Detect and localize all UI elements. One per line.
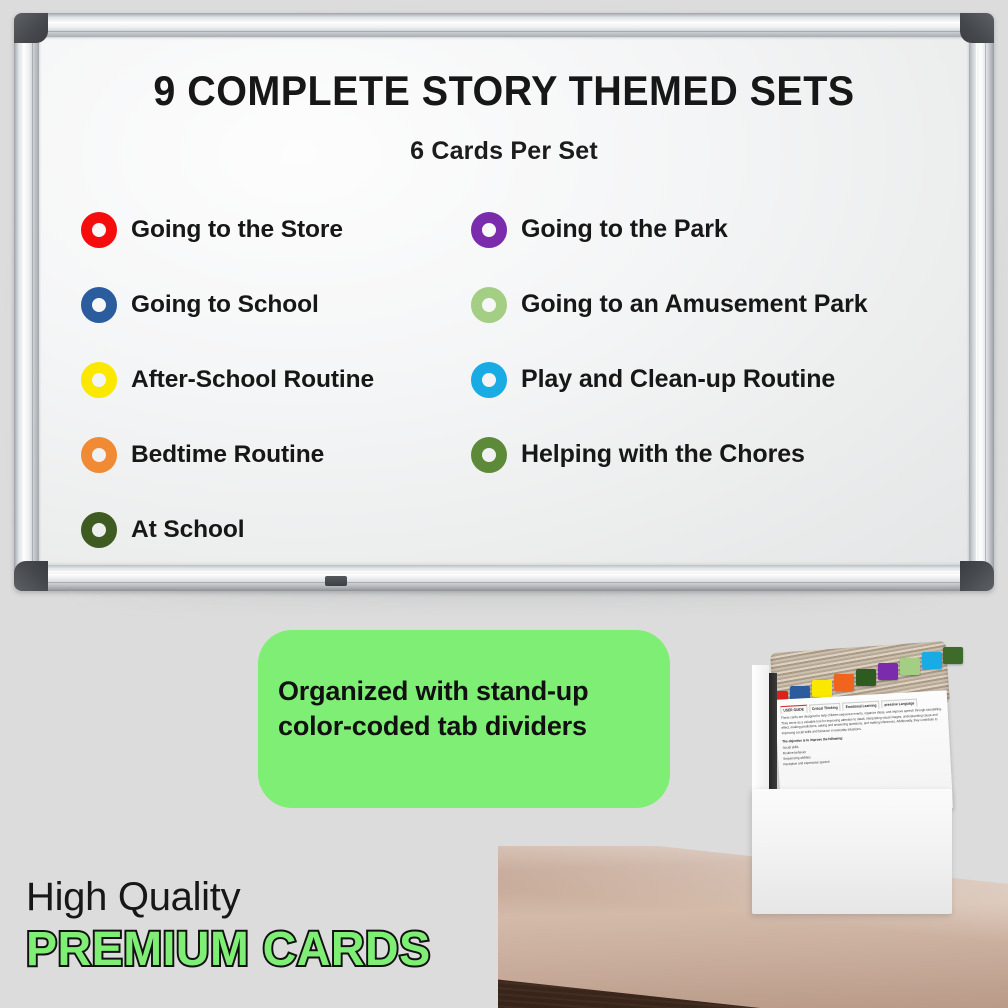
ring-bullet-icon [81,362,117,398]
ring-bullet-icon [81,437,117,473]
list-item: After-School Routine [81,342,471,417]
frame-rail-top [14,13,994,39]
frame-corner-bottom-left [14,561,48,591]
high-quality-heading: High Quality [26,876,443,918]
speech-bubble-text: Organized with stand-up color-coded tab … [278,674,650,743]
story-sets-column-right: Going to the Park Going to an Amusement … [471,192,951,567]
divider-tab [812,680,832,697]
divider-tab [856,669,876,686]
ring-bullet-icon [81,512,117,548]
frame-rail-bottom [14,563,994,591]
ring-bullet-icon [471,212,507,248]
list-item: Going to the Park [471,192,951,267]
set-label: After-School Routine [131,366,374,394]
premium-cards-heading: PREMIUM CARDS [26,924,431,977]
set-label: Helping with the Chores [521,440,805,469]
divider-tab [834,674,854,691]
ring-bullet-icon [471,437,507,473]
ring-bullet-icon [81,287,117,323]
divider-tab [922,652,942,669]
ring-bullet-icon [471,362,507,398]
frame-corner-top-left [14,13,48,43]
list-item: Play and Clean-up Routine [471,342,951,417]
bottom-copy: High Quality PREMIUM CARDS [26,876,443,977]
whiteboard: 9 COMPLETE STORY THEMED SETS 6 Cards Per… [14,13,994,591]
set-label: Going to the Park [521,215,728,244]
card-stack: USER GUIDE Critical Thinking Emotional L… [772,647,948,807]
card-storage-box: USER GUIDE Critical Thinking Emotional L… [752,637,952,914]
page-subtitle: 6 Cards Per Set [65,137,943,166]
guide-tab: Emotional Learning [842,701,879,711]
list-item: At School [81,492,471,567]
frame-corner-top-right [960,13,994,43]
story-sets-column-left: Going to the Store Going to School After… [81,192,471,567]
frame-corner-bottom-right [960,561,994,591]
guide-tab: pressive Language [881,699,917,709]
set-label: Play and Clean-up Routine [521,365,835,394]
whiteboard-frame: 9 COMPLETE STORY THEMED SETS 6 Cards Per… [14,13,994,591]
ring-bullet-icon [471,287,507,323]
set-label: At School [131,516,244,544]
divider-tab [878,663,898,680]
list-item: Going to School [81,267,471,342]
set-label: Going to School [131,291,319,319]
list-item: Going to an Amusement Park [471,267,951,342]
guide-tab: Critical Thinking [809,703,841,713]
marker-tray-clip [325,576,347,586]
speech-bubble: Organized with stand-up color-coded tab … [258,630,670,808]
set-label: Bedtime Routine [131,441,324,469]
divider-tab [900,658,920,675]
page-title: 9 COMPLETE STORY THEMED SETS [91,67,916,115]
divider-tab [943,647,963,664]
list-item: Helping with the Chores [471,417,951,492]
list-item: Bedtime Routine [81,417,471,492]
ring-bullet-icon [81,212,117,248]
guide-tab: USER GUIDE [780,705,807,714]
speech-bubble-line-2: color-coded tab dividers [278,709,650,744]
set-label: Going to an Amusement Park [521,290,868,319]
frame-rail-right [968,13,994,591]
box-front-panel [752,789,952,914]
list-item: Going to the Store [81,192,471,267]
frame-rail-left [14,13,40,591]
story-sets-grid: Going to the Store Going to School After… [81,192,951,567]
speech-bubble-line-1: Organized with stand-up [278,674,650,709]
whiteboard-surface: 9 COMPLETE STORY THEMED SETS 6 Cards Per… [39,37,969,565]
set-label: Going to the Store [131,216,343,244]
